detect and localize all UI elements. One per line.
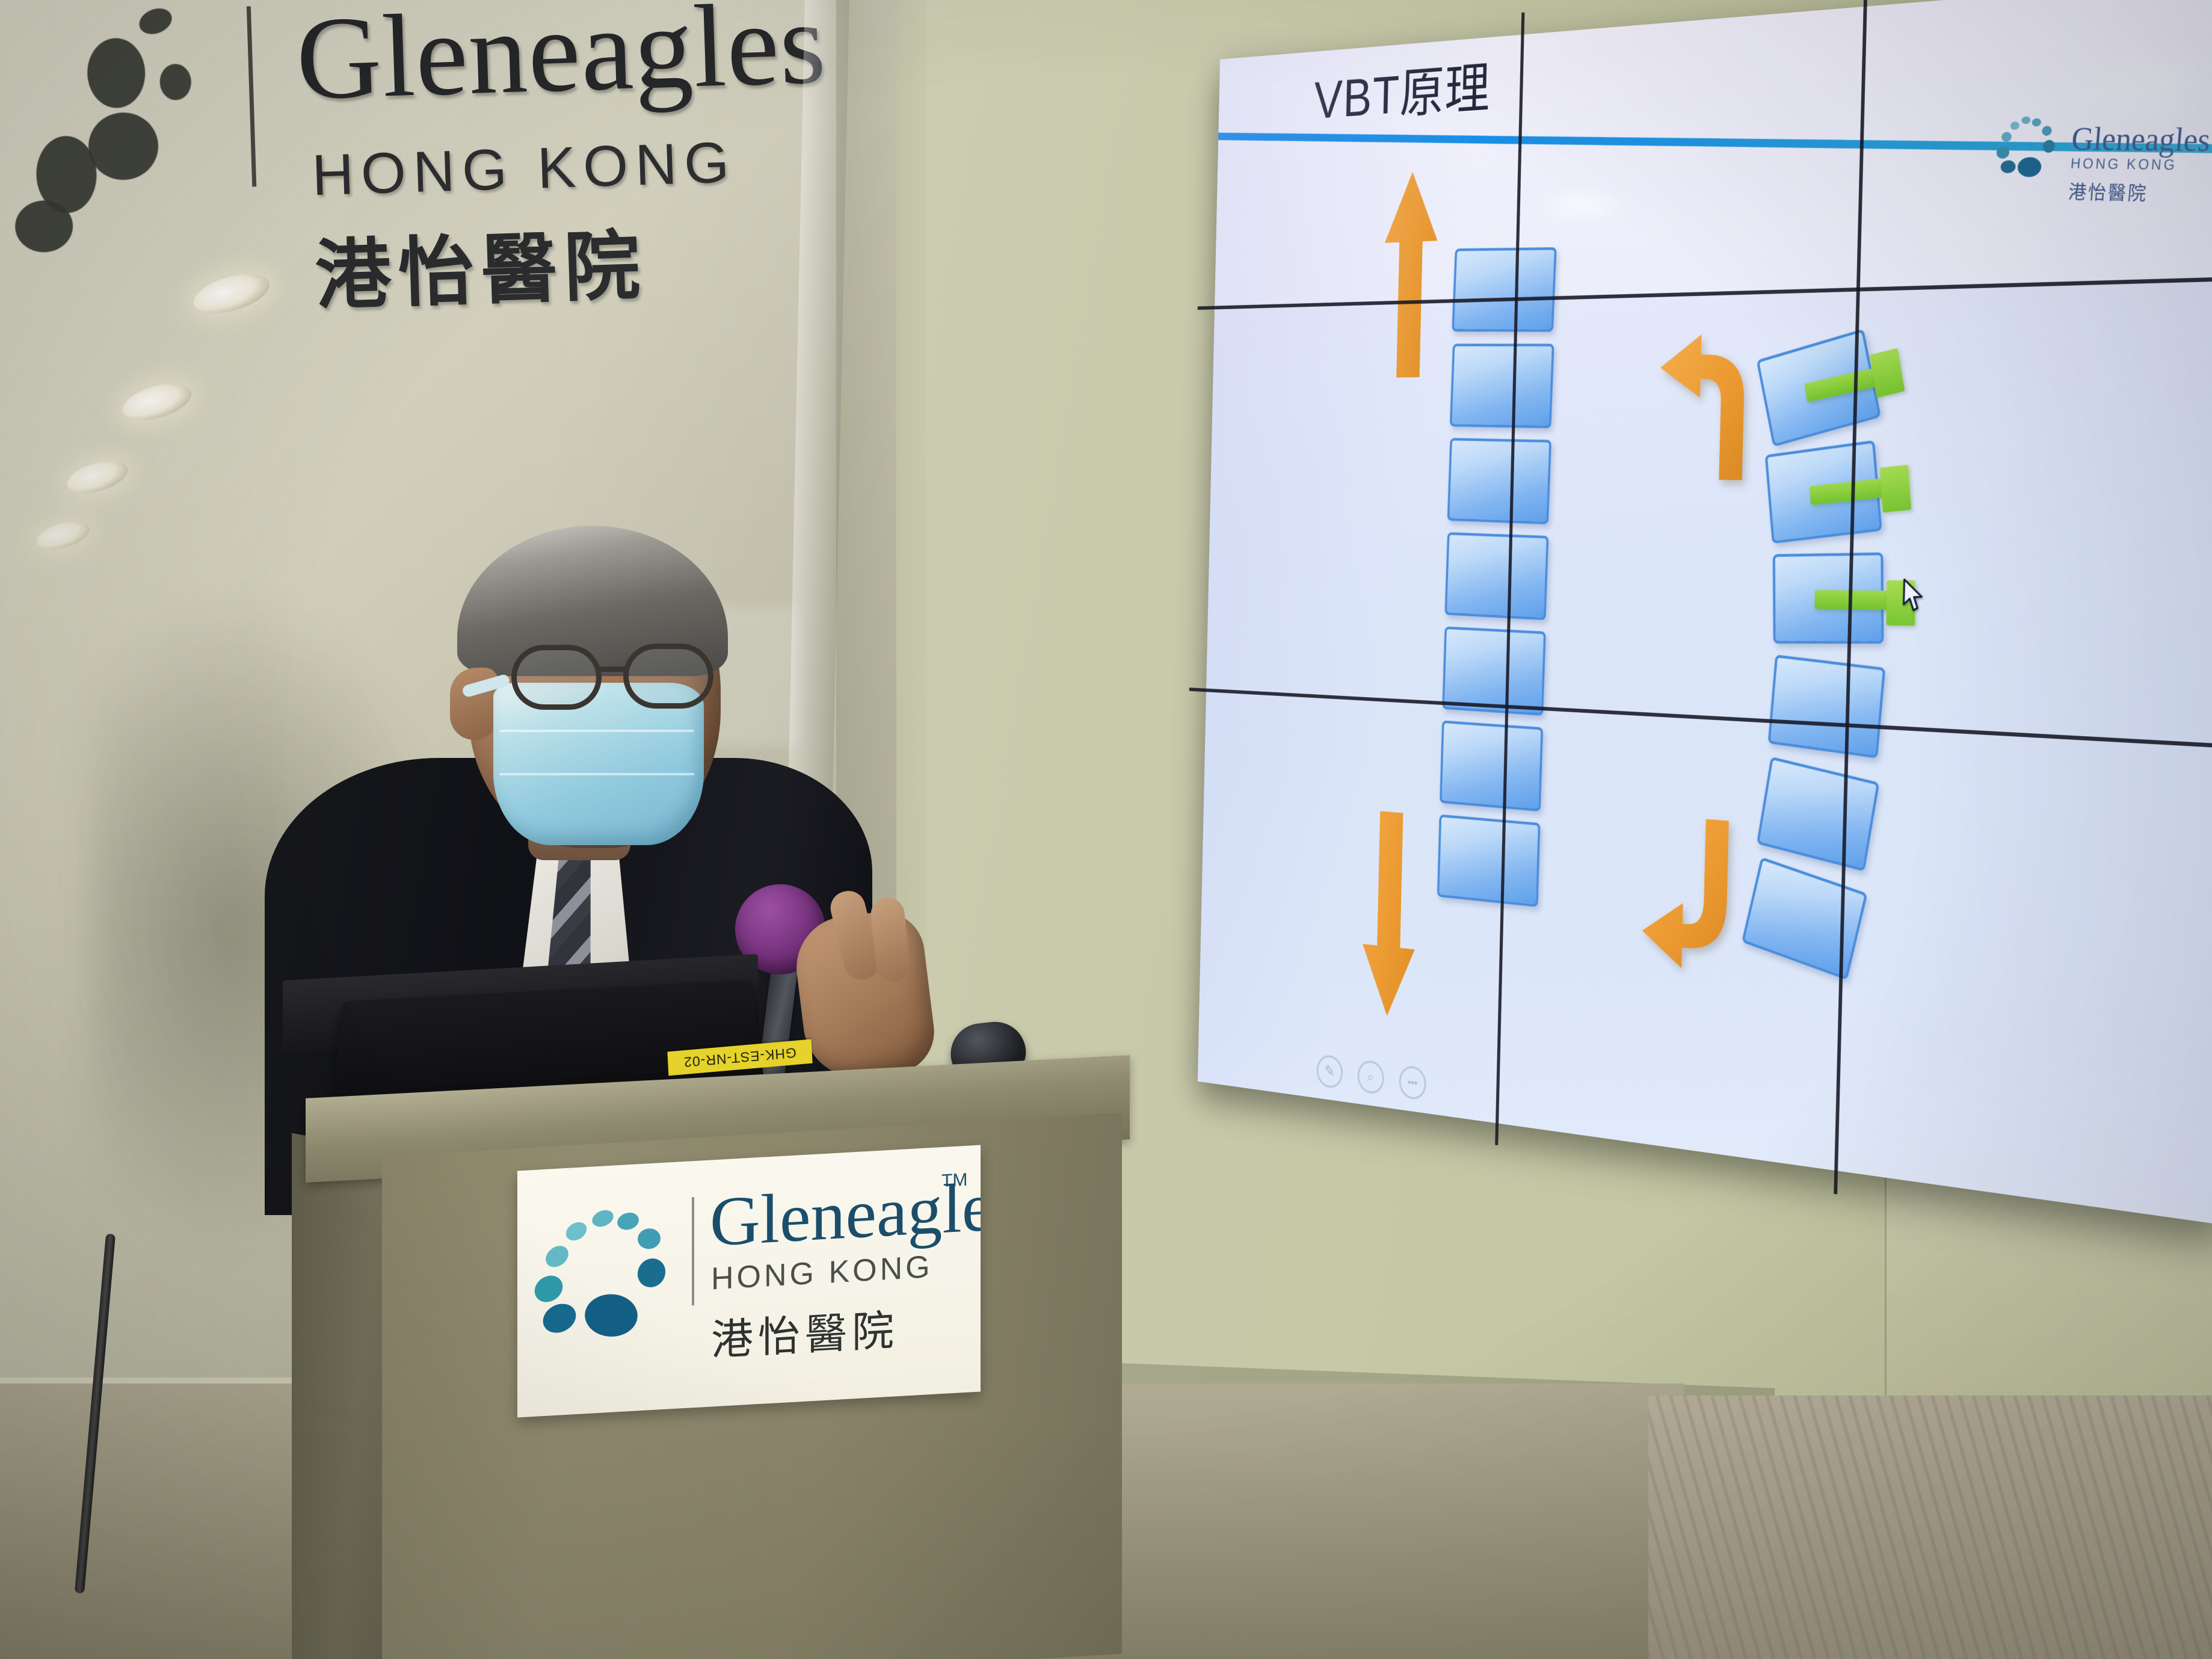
screenshot-stage: Gleneagles HONG KONG 港怡醫院 VBT原理 [0, 0, 2212, 1659]
wall-logo-divider [247, 6, 256, 186]
gleneagles-paw-dots-icon [534, 1207, 673, 1365]
slide-logo-location: HONG KONG [2070, 155, 2178, 174]
correction-arrow-bottom-curved [1631, 814, 1777, 990]
podium-brand-name: Gleneagles [710, 1166, 981, 1263]
video-wall-panels[interactable]: VBT原理 Gleneagles [1198, 0, 2212, 1225]
presentation-slide[interactable]: VBT原理 Gleneagles [1198, 0, 2212, 1225]
tether-anchor-2 [1880, 464, 1912, 512]
podium-sign-divider [692, 1197, 694, 1305]
podium-brand-sign: Gleneagles TM HONG KONG 港怡醫院 [517, 1145, 981, 1417]
podium-brand-chinese: 港怡醫院 [711, 1296, 899, 1367]
eyeglass-bridge [599, 666, 628, 672]
pen-tool-button[interactable]: ✎ [1316, 1054, 1343, 1089]
wall-brand-location: HONG KONG [311, 129, 737, 209]
slide-title: VBT原理 [1313, 43, 1491, 134]
wall-gleneagles-logo: Gleneagles HONG KONG 港怡醫院 [66, 0, 787, 373]
vertebra-left-4 [1444, 532, 1548, 620]
slide-logo-brand: Gleneagles [2070, 120, 2212, 159]
vertebra-left-3 [1447, 438, 1552, 525]
trademark-symbol: TM [941, 1170, 967, 1192]
ceiling-downlight-4 [34, 516, 93, 554]
magnifier-tool-button[interactable]: ⌕ [1357, 1059, 1384, 1095]
vertebra-left-1 [1452, 247, 1556, 332]
vertebra-left-6 [1440, 721, 1543, 812]
vertebra-left-2 [1450, 343, 1554, 428]
wall-brand-name: Gleneagles [294, 0, 828, 127]
eyeglass-lens-right [623, 644, 713, 709]
ceiling-downlight-3 [64, 455, 132, 499]
mouse-pointer-icon [1902, 578, 1926, 614]
slide-gleneagles-logo: Gleneagles HONG KONG 港怡醫院 [1990, 112, 2212, 227]
growth-arrow-down [1361, 810, 1418, 1020]
ceiling-downlight-2 [119, 377, 196, 427]
wall-brand-chinese: 港怡醫院 [313, 205, 649, 324]
video-wall[interactable]: VBT原理 Gleneagles [929, 0, 2212, 1227]
lectern-podium: Gleneagles TM HONG KONG 港怡醫院 [289, 1077, 1143, 1659]
eyeglass-lens-left [511, 645, 602, 710]
slide-logo-chinese: 港怡醫院 [2068, 176, 2149, 206]
vertebra-right-4 [1768, 654, 1886, 759]
gleneagles-paw-dots-icon [66, 7, 229, 205]
vertebra-left-7 [1437, 814, 1541, 907]
more-options-button[interactable]: ••• [1399, 1065, 1426, 1101]
gleneagles-paw-dots-icon [1993, 116, 2063, 186]
podium-side-panel [292, 1133, 394, 1659]
carpet-floor [1648, 1396, 2212, 1659]
